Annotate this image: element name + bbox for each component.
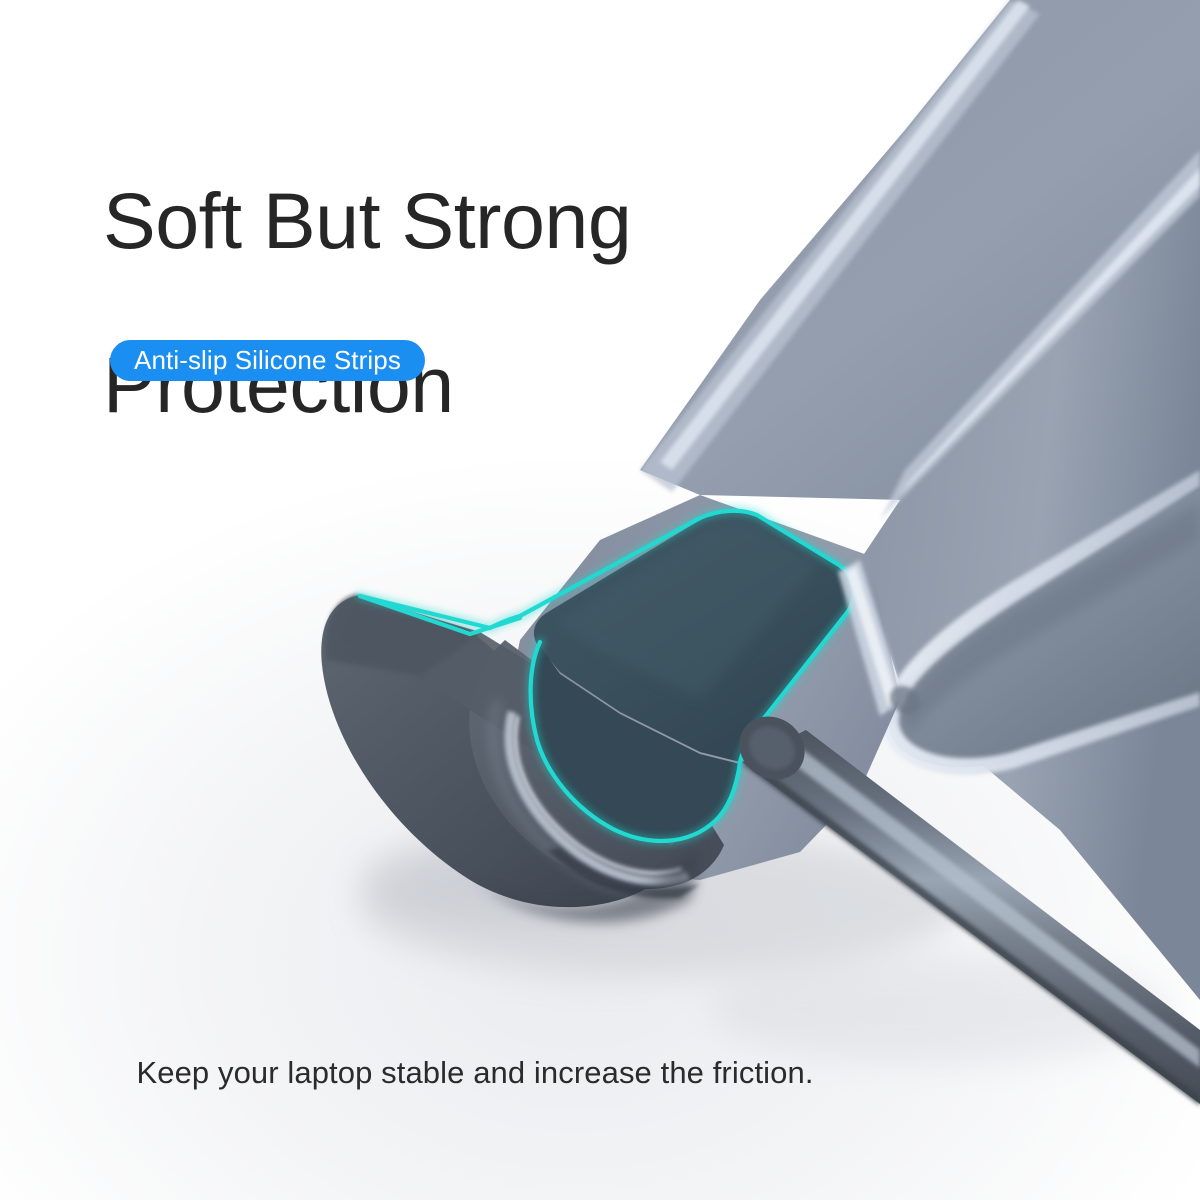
feature-badge: Anti-slip Silicone Strips	[110, 340, 425, 381]
feature-badge-label: Anti-slip Silicone Strips	[134, 345, 401, 376]
product-feature-banner: Soft But Strong Protection Anti-slip Sil…	[0, 0, 1200, 1200]
headline-line-1: Soft But Strong	[103, 180, 803, 262]
page-title: Soft But Strong Protection	[103, 98, 803, 509]
caption-text: Keep your laptop stable and increase the…	[0, 1055, 950, 1091]
